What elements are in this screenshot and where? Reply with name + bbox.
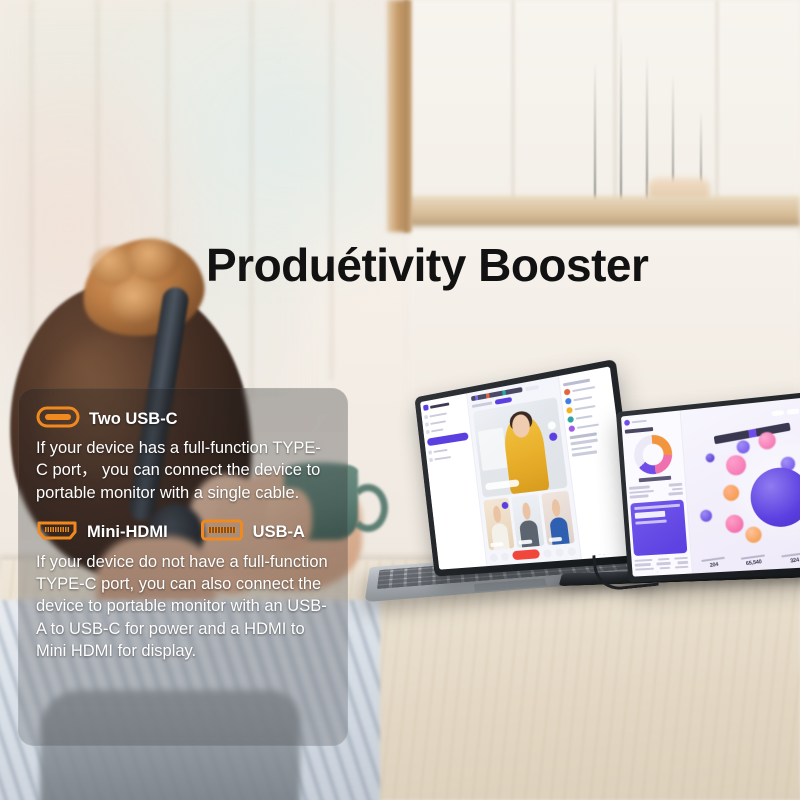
- table-cell: [657, 557, 669, 560]
- decor-reed: [646, 54, 648, 202]
- participant-name: [573, 396, 592, 402]
- legend-value: [669, 492, 683, 496]
- avatar: [568, 425, 575, 432]
- share-screen-icon[interactable]: [543, 549, 552, 558]
- dashboard-logo: [624, 415, 677, 426]
- portable-monitor: 204 65,540 324: [618, 402, 800, 622]
- participant-name: [577, 423, 599, 429]
- wooden-post-edge: [404, 0, 411, 232]
- stat-item: 204: [696, 556, 731, 570]
- filter-chip[interactable]: [772, 410, 785, 416]
- sidebar-item-label: [431, 428, 443, 432]
- pin-icon[interactable]: [548, 421, 557, 430]
- legend-label: [629, 485, 650, 489]
- cabinet-seam: [614, 0, 616, 200]
- chat-icon[interactable]: [555, 548, 564, 557]
- feature-hdmi-usb-a: Mini-HDMI USB-: [36, 518, 332, 662]
- card-value: [635, 510, 665, 518]
- feature-mini-hdmi-label: Mini-HDMI: [87, 523, 168, 542]
- logo-text: [632, 420, 647, 424]
- feature-hdmi-usb-a-header: Mini-HDMI USB-: [36, 518, 332, 547]
- donut-chart: [633, 433, 674, 476]
- logo-mark-icon: [423, 404, 429, 411]
- legend-value: [672, 487, 683, 490]
- contacts-icon: [426, 430, 430, 434]
- feature-panel: Two USB-C If your device has a full-func…: [18, 388, 348, 746]
- decor-reed: [620, 30, 622, 202]
- participant-face: [493, 505, 503, 523]
- stat-item: 324: [776, 551, 800, 565]
- bubble: [725, 514, 744, 533]
- end-call-button[interactable]: [512, 549, 540, 560]
- camera-toggle-icon[interactable]: [501, 552, 509, 561]
- mic-icon[interactable]: [501, 501, 508, 509]
- feature-usb-c-header: Two USB-C: [36, 406, 332, 433]
- usb-c-icon: [36, 406, 80, 433]
- laptop-lid: [414, 359, 642, 577]
- legend-label: [630, 494, 649, 498]
- laptop-screen: [420, 366, 634, 569]
- background-room: [478, 428, 507, 471]
- participant-thumbnails: [483, 490, 575, 550]
- mini-hdmi-icon: [36, 519, 78, 546]
- sidebar-item-label: [433, 449, 447, 453]
- highlight-card[interactable]: [630, 499, 687, 556]
- participant-face: [521, 502, 531, 520]
- participant-tile[interactable]: [541, 490, 575, 545]
- donut-kpi-value: [639, 476, 671, 483]
- card-sub: [635, 519, 667, 524]
- video-call-app: [420, 366, 634, 569]
- participant-tile[interactable]: [511, 494, 544, 548]
- page-title: Produétivity Booster: [206, 238, 648, 292]
- participant-name: [576, 415, 593, 420]
- feature-usb-c-body: If your device has a full-function TYPE-…: [36, 437, 332, 504]
- sidebar-item-label: [434, 456, 451, 461]
- participant-tile[interactable]: [483, 497, 515, 550]
- decor-reed: [594, 60, 596, 200]
- bubble: [705, 453, 715, 463]
- avatar: [566, 407, 573, 414]
- sidebar-item-label: [430, 420, 446, 425]
- chat-text: [572, 450, 597, 456]
- active-speaker-tile[interactable]: [473, 397, 568, 497]
- recording-icon: [428, 450, 432, 454]
- table-cell: [677, 561, 688, 564]
- table-cell: [675, 565, 688, 568]
- logo-text: [430, 402, 449, 408]
- logo-mark-icon: [624, 420, 630, 426]
- table-cell: [675, 556, 688, 559]
- export-chip[interactable]: [787, 408, 800, 414]
- participant-face: [551, 499, 561, 518]
- stat-strip: 204 65,540 324: [696, 552, 800, 568]
- feature-usb-c-label: Two USB-C: [89, 410, 178, 429]
- cabinet-seam: [716, 0, 718, 200]
- feature-usb-a-label: USB-A: [253, 523, 305, 542]
- legend-rows: [629, 483, 683, 498]
- meeting-time: [525, 384, 539, 390]
- calendar-icon: [425, 422, 429, 426]
- stat-item: 65,540: [736, 553, 772, 567]
- card-label: [634, 503, 680, 509]
- sidebar-item-settings[interactable]: [429, 452, 470, 462]
- participant-name: [574, 405, 595, 411]
- feature-hdmi-usb-a-body: If your device do not have a full-functi…: [36, 551, 332, 662]
- mic-toggle-icon[interactable]: [490, 553, 498, 561]
- product-marketing-image: 204 65,540 324: [0, 0, 800, 800]
- dashboard-canvas: 204 65,540 324: [680, 398, 800, 574]
- table-cell: [657, 562, 671, 565]
- more-options-icon[interactable]: [567, 547, 576, 556]
- expand-icon[interactable]: [549, 432, 558, 441]
- avatar: [567, 416, 574, 423]
- chat-text: [571, 445, 592, 451]
- meeting-subtitle: [472, 402, 492, 408]
- home-icon: [424, 415, 428, 419]
- avatar: [564, 388, 571, 395]
- invite-button[interactable]: [495, 397, 512, 405]
- statistics-heading: [625, 427, 654, 434]
- cabinet-seam: [512, 0, 514, 200]
- sidebar-item-label: [429, 412, 446, 417]
- new-meeting-button[interactable]: [427, 432, 469, 446]
- usb-a-icon: [200, 518, 244, 547]
- legend-value: [669, 483, 682, 486]
- avatar: [565, 398, 572, 405]
- participant-name: [572, 386, 595, 393]
- feature-usb-c: Two USB-C If your device has a full-func…: [36, 406, 332, 504]
- hair-curl: [128, 238, 180, 282]
- tile-controls[interactable]: [548, 421, 558, 441]
- gear-icon: [429, 458, 433, 462]
- table-cell: [659, 566, 670, 569]
- wall-slat: [330, 0, 333, 380]
- bubble: [700, 510, 713, 523]
- canvas-toolbar[interactable]: [772, 408, 800, 416]
